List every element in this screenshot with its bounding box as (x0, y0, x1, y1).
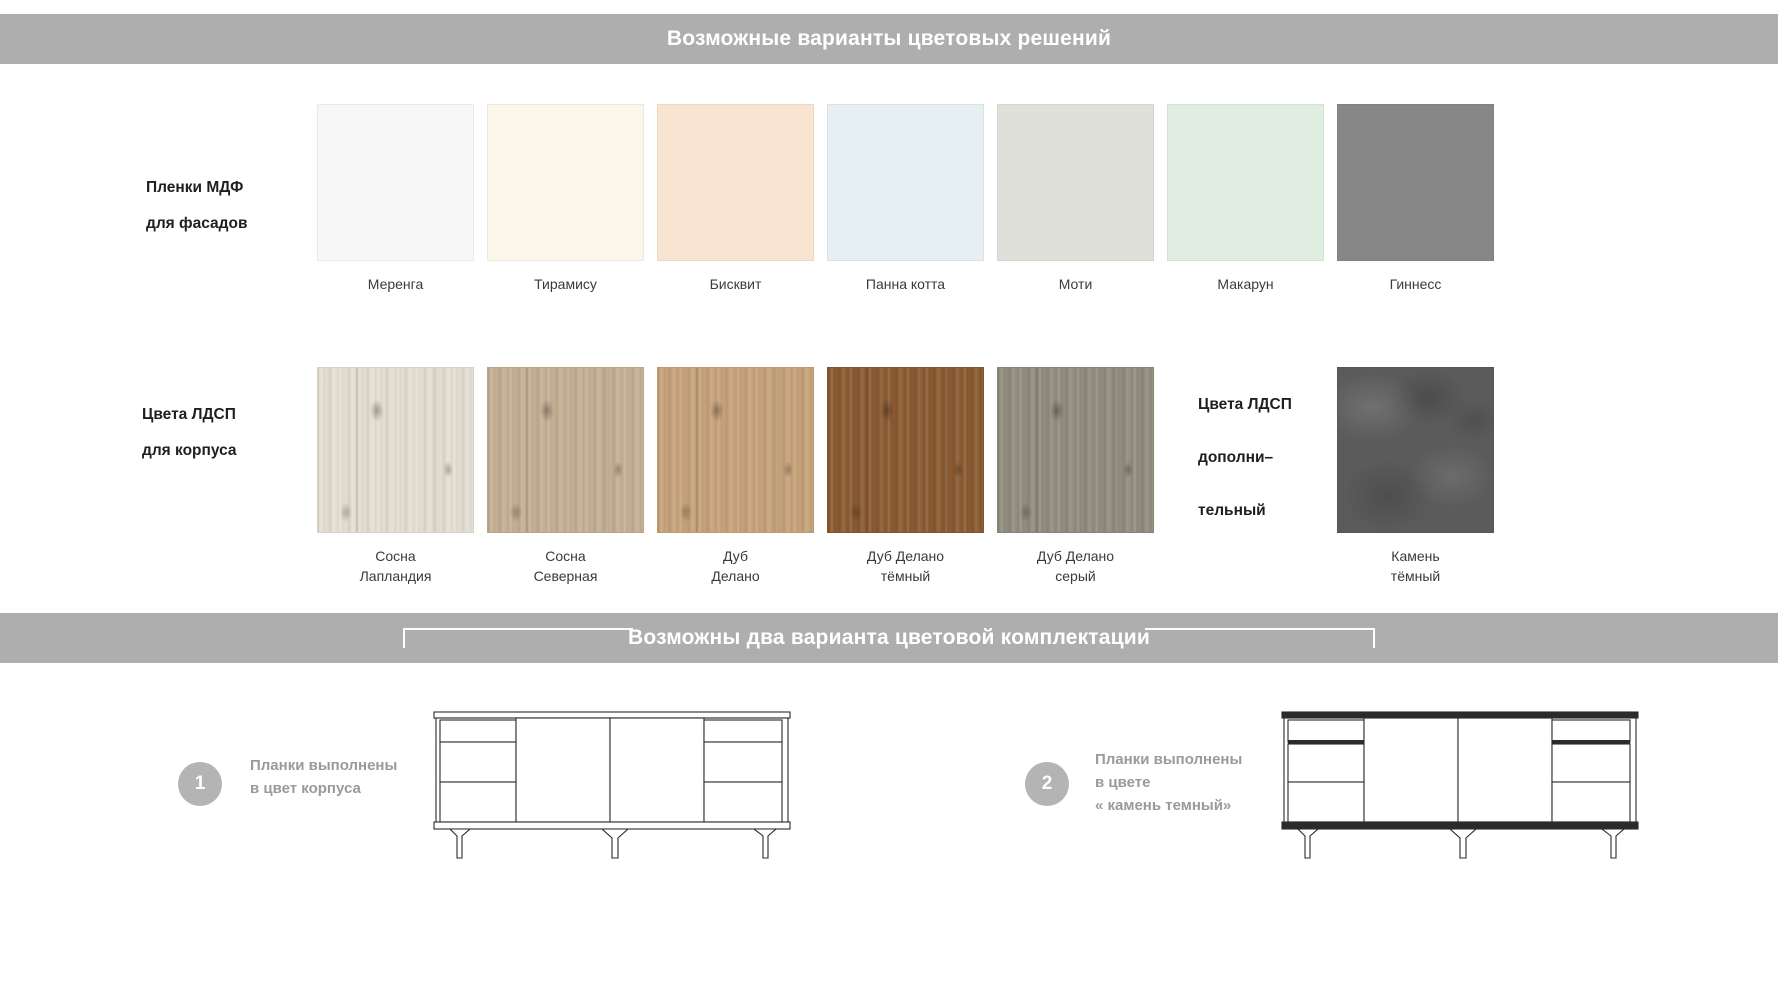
swatch-chip[interactable] (1337, 104, 1494, 261)
top-banner-title: Возможные варианты цветовых решений (667, 27, 1111, 51)
swatch-caption: Дуб Делано тёмный (867, 546, 944, 586)
ldsp-extra-section-label: Цвета ЛДСП дополни– тельный (1198, 378, 1292, 537)
ldsp-label-line1: Цвета ЛДСП (142, 397, 237, 433)
swatch-makarun[interactable]: Макарун (1167, 104, 1324, 294)
wood-grain-texture (998, 368, 1153, 532)
swatch-chip[interactable] (997, 104, 1154, 261)
swatch-caption: Панна котта (866, 274, 945, 294)
mdf-section-label: Пленки МДФ для фасадов (146, 170, 247, 242)
swatch-chip[interactable] (317, 367, 474, 533)
ldsp-section-label: Цвета ЛДСП для корпуса (142, 397, 237, 469)
option-2-number: 2 (1042, 773, 1053, 795)
swatch-chip[interactable] (317, 104, 474, 261)
swatch-sosna-laplandiya[interactable]: Сосна Лапландия (317, 367, 474, 586)
ldsp-swatch-row: Сосна Лапландия Сосна Северная Дуб Делан… (0, 367, 1778, 368)
option-1-badge: 1 (178, 762, 222, 806)
swatch-caption: Макарун (1217, 274, 1273, 294)
mid-banner: Возможны два варианта цветовой комплекта… (0, 613, 1778, 663)
mid-banner-title: Возможны два варианта цветовой комплекта… (628, 626, 1150, 650)
swatch-dub-delano-seryy[interactable]: Дуб Делано серый (997, 367, 1154, 586)
swatch-chip[interactable] (1337, 367, 1494, 533)
swatch-chip[interactable] (997, 367, 1154, 533)
ldsp-label-line2: для корпуса (142, 433, 237, 469)
swatch-chip[interactable] (487, 367, 644, 533)
swatch-caption: Камень тёмный (1391, 546, 1440, 586)
swatch-dub-delano-tyomnyy[interactable]: Дуб Делано тёмный (827, 367, 984, 586)
ldsp-extra-label-line2: дополни– (1198, 431, 1292, 484)
swatch-moti[interactable]: Моти (997, 104, 1154, 294)
option-1-number: 1 (195, 773, 206, 795)
swatch-chip[interactable] (1167, 104, 1324, 261)
stone-texture (1338, 368, 1493, 532)
mdf-label-line1: Пленки МДФ (146, 170, 247, 206)
ldsp-extra-label-line3: тельный (1198, 484, 1292, 537)
swatch-chip[interactable] (657, 104, 814, 261)
ldsp-extra-label-line1: Цвета ЛДСП (1198, 378, 1292, 431)
option-1-text: Планки выполнены в цвет корпуса (250, 754, 397, 800)
swatch-caption: Меренга (368, 274, 424, 294)
swatch-ginness[interactable]: Гиннесс (1337, 104, 1494, 294)
swatch-panna-kotta[interactable]: Панна котта (827, 104, 984, 294)
swatch-dub-delano[interactable]: Дуб Делано (657, 367, 814, 586)
color-options-page: Возможные варианты цветовых решений Плен… (0, 0, 1778, 1000)
swatch-caption: Тирамису (534, 274, 597, 294)
swatch-kamen-tyomnyy[interactable]: Камень тёмный (1337, 367, 1494, 586)
bracket-right-decoration (1145, 628, 1375, 648)
swatch-merenga[interactable]: Меренга (317, 104, 474, 294)
sideboard-diagram-option-2 (1280, 700, 1640, 860)
swatch-chip[interactable] (827, 367, 984, 533)
swatch-chip[interactable] (487, 104, 644, 261)
swatch-caption: Дуб Делано (711, 546, 759, 586)
mdf-swatch-row: Меренга Тирамису Бисквит Панна котта Мот… (0, 104, 1778, 105)
swatch-caption: Бисквит (710, 274, 762, 294)
top-banner: Возможные варианты цветовых решений (0, 14, 1778, 64)
swatch-biskvit[interactable]: Бисквит (657, 104, 814, 294)
mdf-label-line2: для фасадов (146, 206, 247, 242)
swatch-caption: Дуб Делано серый (1037, 546, 1114, 586)
swatch-chip[interactable] (657, 367, 814, 533)
bracket-left-decoration (403, 628, 633, 648)
wood-grain-texture (488, 368, 643, 532)
sideboard-diagram-option-1 (432, 700, 792, 860)
swatch-sosna-severnaya[interactable]: Сосна Северная (487, 367, 644, 586)
swatch-tiramisu[interactable]: Тирамису (487, 104, 644, 294)
option-2-badge: 2 (1025, 762, 1069, 806)
wood-grain-texture (318, 368, 473, 532)
swatch-caption: Сосна Северная (534, 546, 598, 586)
wood-grain-texture (828, 368, 983, 532)
wood-grain-texture (658, 368, 813, 532)
swatch-caption: Сосна Лапландия (360, 546, 432, 586)
swatch-caption: Гиннесс (1390, 274, 1442, 294)
option-2-text: Планки выполнены в цвете « камень темный… (1095, 748, 1242, 817)
swatch-chip[interactable] (827, 104, 984, 261)
swatch-caption: Моти (1059, 274, 1093, 294)
